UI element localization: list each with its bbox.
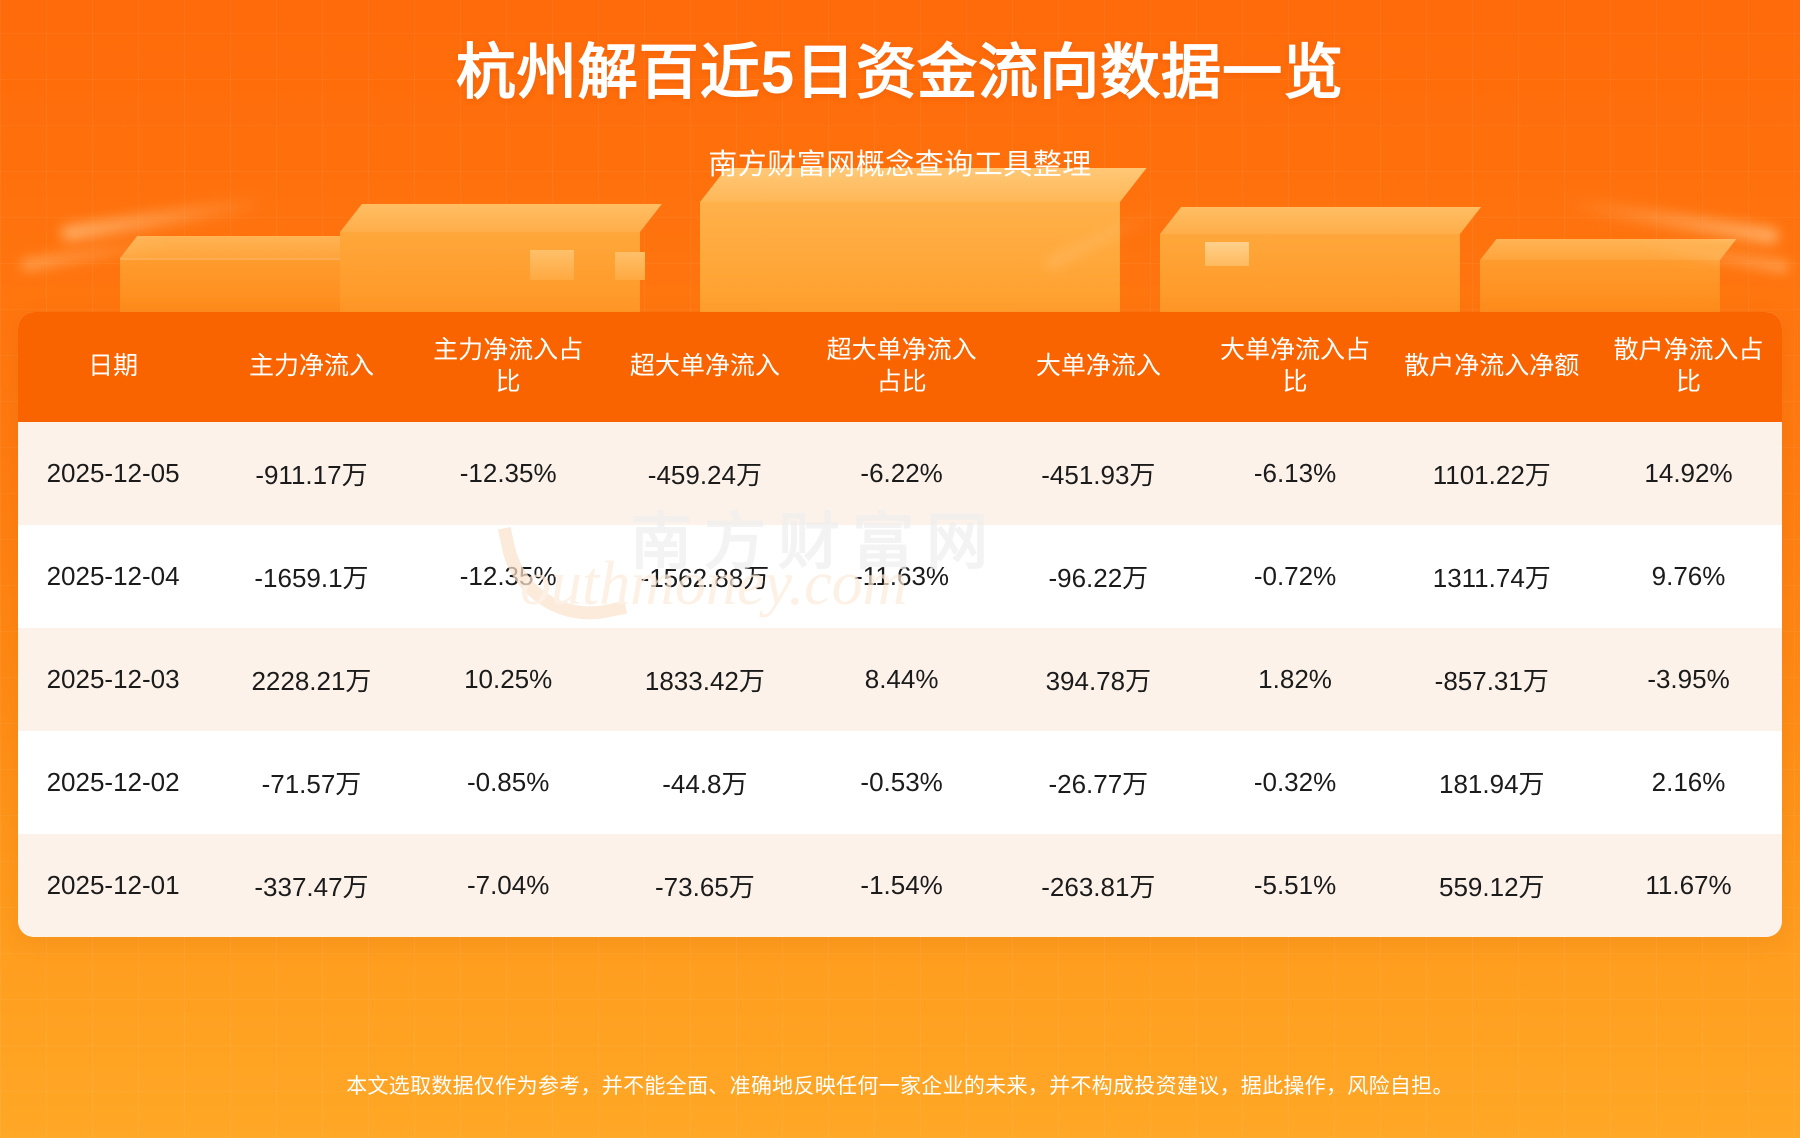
cell-main-net: -337.47万: [208, 834, 415, 937]
cell-retail-net: 1311.74万: [1389, 525, 1596, 628]
column-header-main-net-pct: 主力净流入占比: [415, 312, 602, 422]
podium-cube-1: [530, 250, 574, 280]
table-row: 2025-12-04 -1659.1万 -12.35% -1562.88万 -1…: [18, 525, 1782, 628]
poster-root: 杭州解百近5日资金流向数据一览 南方财富网概念查询工具整理 日期 主力净流入 主…: [0, 0, 1800, 1138]
cell-date: 2025-12-03: [18, 628, 208, 731]
cell-large-net: -26.77万: [995, 731, 1202, 834]
cell-large-net-pct: -0.32%: [1202, 731, 1389, 834]
podium-block-far-left: [120, 258, 350, 320]
column-header-large-net-pct: 大单净流入占比: [1202, 312, 1389, 422]
podium-block-far-right: [1480, 260, 1720, 320]
page-title: 杭州解百近5日资金流向数据一览: [0, 38, 1800, 107]
fund-flow-table: 日期 主力净流入 主力净流入占比 超大单净流入 超大单净流入占比 大单净流入 大…: [18, 312, 1782, 937]
table-row: 2025-12-02 -71.57万 -0.85% -44.8万 -0.53% …: [18, 731, 1782, 834]
cell-super-large-net: 1833.42万: [602, 628, 809, 731]
column-header-retail-net: 散户净流入净额: [1389, 312, 1596, 422]
cell-retail-net-pct: 11.67%: [1595, 834, 1782, 937]
podium-cube-2: [615, 252, 645, 280]
cell-main-net-pct: 10.25%: [415, 628, 602, 731]
cell-large-net: -263.81万: [995, 834, 1202, 937]
cell-retail-net-pct: 14.92%: [1595, 422, 1782, 525]
cell-large-net: -451.93万: [995, 422, 1202, 525]
cell-large-net-pct: -0.72%: [1202, 525, 1389, 628]
cell-super-large-net-pct: -6.22%: [808, 422, 995, 525]
cell-main-net: -1659.1万: [208, 525, 415, 628]
cell-retail-net: 181.94万: [1389, 731, 1596, 834]
cell-super-large-net: -459.24万: [602, 422, 809, 525]
cell-super-large-net-pct: -1.54%: [808, 834, 995, 937]
cell-main-net-pct: -12.35%: [415, 422, 602, 525]
table-header: 日期 主力净流入 主力净流入占比 超大单净流入 超大单净流入占比 大单净流入 大…: [18, 312, 1782, 422]
column-header-large-net: 大单净流入: [995, 312, 1202, 422]
cell-super-large-net-pct: 8.44%: [808, 628, 995, 731]
cell-retail-net-pct: 2.16%: [1595, 731, 1782, 834]
cell-retail-net: 1101.22万: [1389, 422, 1596, 525]
light-streak-right-2: [1640, 238, 1790, 273]
fund-flow-table-card: 日期 主力净流入 主力净流入占比 超大单净流入 超大单净流入占比 大单净流入 大…: [18, 312, 1782, 937]
cell-main-net: -911.17万: [208, 422, 415, 525]
cell-super-large-net: -44.8万: [602, 731, 809, 834]
cell-large-net: -96.22万: [995, 525, 1202, 628]
cell-main-net-pct: -0.85%: [415, 731, 602, 834]
cell-retail-net-pct: -3.95%: [1595, 628, 1782, 731]
podium-decoration: [0, 185, 1800, 320]
podium-cube-3: [1205, 242, 1249, 266]
table-header-row: 日期 主力净流入 主力净流入占比 超大单净流入 超大单净流入占比 大单净流入 大…: [18, 312, 1782, 422]
cell-main-net: 2228.21万: [208, 628, 415, 731]
podium-block-right: [1160, 234, 1460, 320]
page-subtitle: 南方财富网概念查询工具整理: [0, 141, 1800, 183]
cell-retail-net: 559.12万: [1389, 834, 1596, 937]
podium-block-center: [700, 202, 1120, 320]
column-header-retail-net-pct: 散户净流入占比: [1595, 312, 1782, 422]
light-streak-right-1: [1560, 195, 1780, 245]
disclaimer-text: 本文选取数据仅作为参考，并不能全面、准确地反映任何一家企业的未来，并不构成投资建…: [0, 1070, 1800, 1100]
column-header-date: 日期: [18, 312, 208, 422]
cell-large-net-pct: 1.82%: [1202, 628, 1389, 731]
table-body: 2025-12-05 -911.17万 -12.35% -459.24万 -6.…: [18, 422, 1782, 937]
cell-large-net-pct: -6.13%: [1202, 422, 1389, 525]
cell-date: 2025-12-04: [18, 525, 208, 628]
cell-date: 2025-12-01: [18, 834, 208, 937]
cell-retail-net-pct: 9.76%: [1595, 525, 1782, 628]
cell-main-net-pct: -12.35%: [415, 525, 602, 628]
column-header-main-net: 主力净流入: [208, 312, 415, 422]
cell-main-net-pct: -7.04%: [415, 834, 602, 937]
cell-retail-net: -857.31万: [1389, 628, 1596, 731]
cell-super-large-net: -73.65万: [602, 834, 809, 937]
cell-super-large-net: -1562.88万: [602, 525, 809, 628]
light-streak-left-2: [20, 236, 170, 271]
cell-large-net: 394.78万: [995, 628, 1202, 731]
light-streak-left-1: [60, 194, 270, 243]
table-row: 2025-12-03 2228.21万 10.25% 1833.42万 8.44…: [18, 628, 1782, 731]
cell-date: 2025-12-02: [18, 731, 208, 834]
table-row: 2025-12-05 -911.17万 -12.35% -459.24万 -6.…: [18, 422, 1782, 525]
table-row: 2025-12-01 -337.47万 -7.04% -73.65万 -1.54…: [18, 834, 1782, 937]
cell-date: 2025-12-05: [18, 422, 208, 525]
podium-block-left: [340, 232, 640, 320]
cell-super-large-net-pct: -0.53%: [808, 731, 995, 834]
cell-large-net-pct: -5.51%: [1202, 834, 1389, 937]
column-header-super-large-net: 超大单净流入: [602, 312, 809, 422]
column-header-super-large-net-pct: 超大单净流入占比: [808, 312, 995, 422]
cell-main-net: -71.57万: [208, 731, 415, 834]
cell-super-large-net-pct: -11.63%: [808, 525, 995, 628]
poster-header: 杭州解百近5日资金流向数据一览 南方财富网概念查询工具整理: [0, 0, 1800, 183]
light-streak-center: [1044, 204, 1165, 270]
